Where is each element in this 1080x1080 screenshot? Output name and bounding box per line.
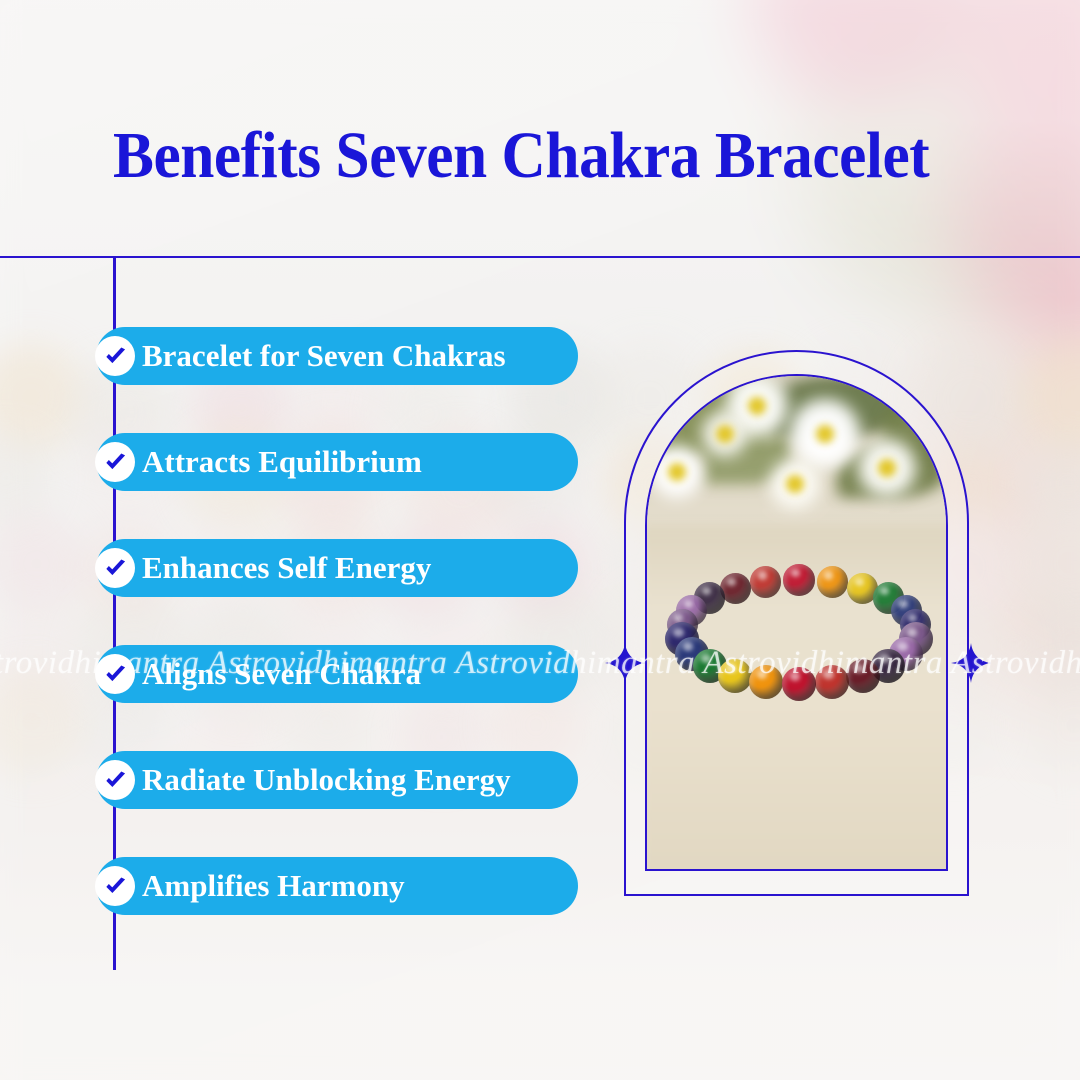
benefit-item-4[interactable]: Aligns Seven Chakra [96,645,578,703]
check-icon [95,336,135,376]
check-icon [95,548,135,588]
bracelet-bead [783,564,814,595]
bracelet-bead [749,665,783,699]
check-icon [95,760,135,800]
bracelet-bead [846,659,880,693]
benefit-item-3[interactable]: Enhances Self Energy [96,539,578,597]
benefit-label: Enhances Self Energy [142,551,431,585]
bracelet-bead [815,665,849,699]
benefit-item-1[interactable]: Bracelet for Seven Chakras [96,327,578,385]
bracelet-bead [750,566,781,597]
product-photo [647,376,946,869]
benefit-item-6[interactable]: Amplifies Harmony [96,857,578,915]
horizontal-divider [0,256,1080,258]
benefits-list: Bracelet for Seven Chakras Attracts Equi… [96,327,596,915]
check-icon [95,654,135,694]
bracelet-bead [782,667,816,701]
bracelet-bead [718,659,752,693]
benefit-label: Amplifies Harmony [142,869,405,903]
check-icon [95,442,135,482]
page-title: Benefits Seven Chakra Bracelet [113,118,913,194]
benefit-label: Bracelet for Seven Chakras [142,339,506,373]
benefit-label: Attracts Equilibrium [142,445,422,479]
bracelet-bead [817,566,848,597]
sparkle-left-icon [604,642,646,684]
benefit-label: Aligns Seven Chakra [142,657,421,691]
product-image-frame [645,374,948,871]
check-icon [95,866,135,906]
benefit-item-5[interactable]: Radiate Unblocking Energy [96,751,578,809]
infographic-canvas: Benefits Seven Chakra Bracelet Bracelet … [0,0,1080,1080]
benefit-label: Radiate Unblocking Energy [142,763,511,797]
benefit-item-2[interactable]: Attracts Equilibrium [96,433,578,491]
sparkle-right-icon [950,642,992,684]
